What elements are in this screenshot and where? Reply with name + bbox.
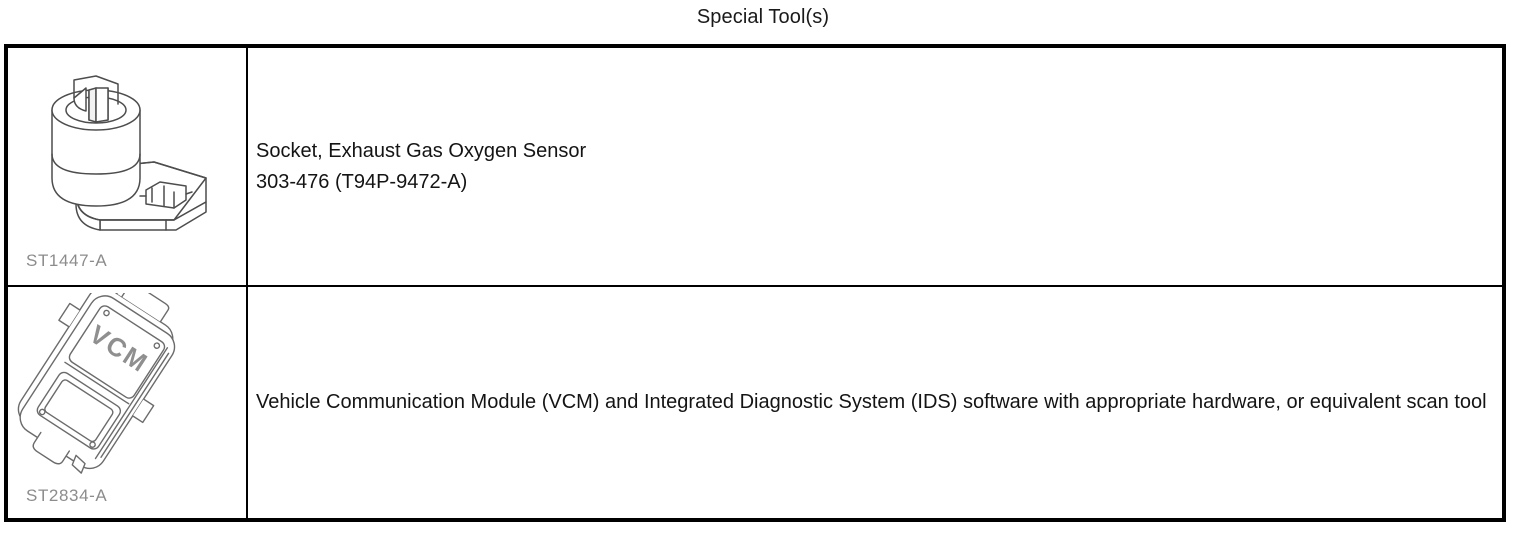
tool-description-line-2: 303-476 (T94P-9472-A) bbox=[256, 167, 1502, 198]
page-title: Special Tool(s) bbox=[0, 4, 1526, 30]
table-row: ST1447-A Socket, Exhaust Gas Oxygen Sens… bbox=[8, 48, 1502, 285]
table-row: VCM bbox=[8, 285, 1502, 518]
tool-code-label: ST1447-A bbox=[26, 251, 107, 271]
tool-description-line-1: Vehicle Communication Module (VCM) and I… bbox=[256, 387, 1502, 418]
tool-description-line-1: Socket, Exhaust Gas Oxygen Sensor bbox=[256, 136, 1502, 167]
tool-code-label: ST2834-A bbox=[26, 486, 107, 506]
tool-description-cell: Socket, Exhaust Gas Oxygen Sensor 303-47… bbox=[248, 48, 1502, 285]
special-tools-table: ST1447-A Socket, Exhaust Gas Oxygen Sens… bbox=[4, 44, 1506, 522]
tool-illustration-cell: ST1447-A bbox=[8, 48, 248, 285]
vehicle-communication-module-illustration: VCM bbox=[16, 293, 231, 493]
tool-illustration-cell: VCM bbox=[8, 287, 248, 518]
tool-description-cell: Vehicle Communication Module (VCM) and I… bbox=[248, 287, 1502, 518]
socket-exhaust-gas-oxygen-sensor-illustration bbox=[34, 66, 224, 246]
